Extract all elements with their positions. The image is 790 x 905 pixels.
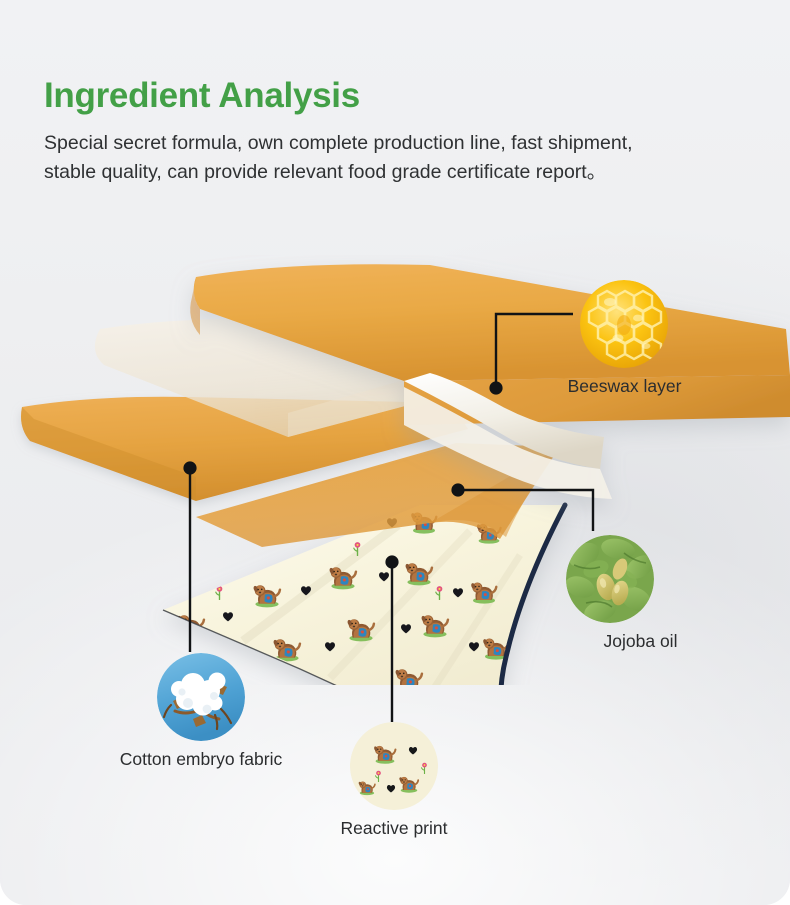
infographic-page: Ingredient Analysis Special secret formu… (0, 0, 790, 905)
callout-reactive-print-label: Reactive print (308, 817, 480, 839)
cotton-boll-icon (157, 653, 245, 741)
callout-jojoba-label: Jojoba oil (553, 630, 728, 652)
callout-reactive-print[interactable]: Reactive print (308, 722, 480, 839)
jojoba-fruit-icon (566, 535, 654, 623)
page-title: Ingredient Analysis (44, 74, 724, 118)
callout-beeswax-label: Beeswax layer (542, 375, 707, 397)
page-description: Special secret formula, own complete pro… (44, 129, 689, 187)
callout-jojoba[interactable]: Jojoba oil (553, 535, 728, 652)
callout-cotton[interactable]: Cotton embryo fabric (116, 653, 286, 770)
callout-beeswax[interactable]: Beeswax layer (542, 280, 707, 397)
dog-print-swatch-icon (350, 722, 438, 810)
callout-cotton-label: Cotton embryo fabric (116, 748, 286, 770)
header: Ingredient Analysis Special secret formu… (44, 74, 724, 187)
honeycomb-icon (580, 280, 668, 368)
